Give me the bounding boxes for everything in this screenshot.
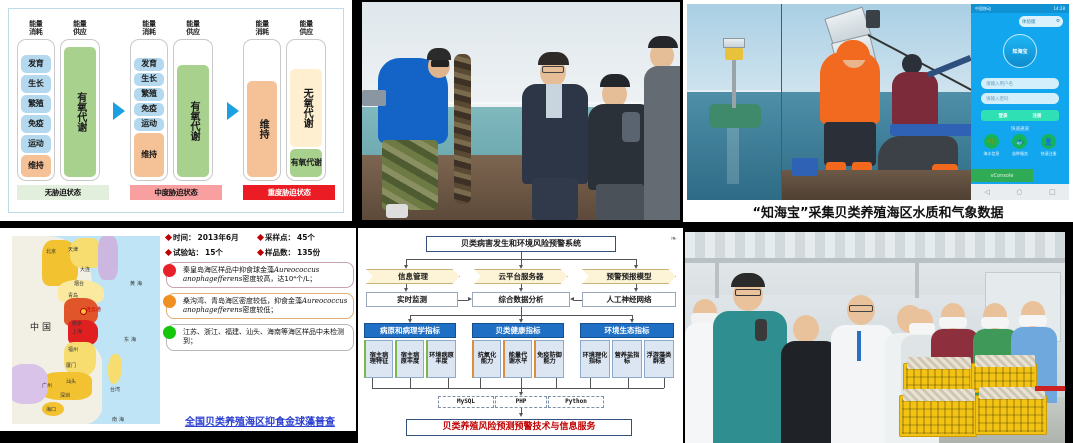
recents-icon[interactable]: □ (1049, 188, 1056, 196)
column-header-consumption-3: 能量消耗 (255, 21, 268, 36)
android-nav-bar: ◁ ○ □ (971, 184, 1069, 200)
diamond-bullet-icon (257, 249, 264, 256)
map-label-lianyungang: 连云港 (86, 306, 101, 313)
glasses-icon (735, 289, 761, 296)
seg-yundong-1: 运动 (21, 135, 51, 153)
seg-aerobic-2: 有氧代谢 (177, 65, 209, 177)
shellfish-pile-2 (975, 355, 1035, 367)
person-speaker (713, 275, 789, 443)
arrow-right-icon (468, 297, 472, 301)
slide-board: 能量消耗 发育 生长 繁殖 免疫 运动 维持 能量供应 有 (0, 0, 1073, 443)
supply-column-1: 能量供应 有氧代谢 (60, 21, 100, 181)
red-dot-icon (163, 264, 176, 277)
map-label-yantai: 烟台 (74, 280, 84, 287)
version-label: 体验版 (1022, 19, 1036, 25)
phone-screen: 中国移动 14:28 体验版 ⚙ 知海宝 请输入用户名 请输入密码 (971, 4, 1069, 200)
category-header-environment: 环境生态指标 (580, 323, 674, 338)
shellfish-pile-1 (907, 357, 971, 369)
sub-host-pathology: 宿主病理特征 (364, 340, 393, 378)
stat-row-2: 试验站： 15个 样品数： 135份 (166, 247, 354, 258)
username-input[interactable]: 请输入用户名 (981, 78, 1059, 89)
diamond-bullet-icon (257, 234, 264, 241)
arrow-right-icon-1 (113, 102, 125, 120)
connector (556, 378, 557, 388)
column-header-consumption-1: 能量消耗 (29, 21, 42, 36)
connector (521, 378, 522, 388)
map-label-huanghai: 黄海 (130, 280, 144, 287)
stat-samples-value: 135份 (297, 247, 320, 258)
quick-item-seed[interactable]: 🐟 苗种服务 (1012, 134, 1028, 157)
map-label-qingdao: 青岛 (68, 292, 78, 299)
consumption-column-2: 能量消耗 发育 生长 繁殖 免疫 运动 维持 (130, 21, 168, 181)
sub-env-pathogen-abundance: 环境病原丰度 (426, 340, 456, 378)
camera-box (866, 10, 880, 28)
system-architecture-panel: ❧ 贝类病害发生和环境风险预警系统 信息管理 云平台服务器 预警预报模型 实时监… (358, 228, 683, 443)
connector-bus (372, 388, 664, 389)
sub-env-physicochemical: 环境理化指标 (580, 340, 610, 378)
stress-group-none: 能量消耗 发育 生长 繁殖 免疫 运动 维持 能量供应 有 (17, 21, 109, 200)
chevron-info-management: 信息管理 (366, 269, 460, 284)
sub-immune-defense: 免疫防御能力 (534, 340, 564, 378)
map-label-shenzhen: 深圳 (60, 392, 70, 399)
buoy-monitoring-panel: 中国移动 14:28 体验版 ⚙ 知海宝 请输入用户名 请输入密码 (683, 0, 1073, 222)
consumption-column-1: 能量消耗 发育 生长 繁殖 免疫 运动 维持 (17, 21, 55, 181)
process-realtime-monitoring: 实时监测 (366, 292, 458, 307)
connector (664, 378, 665, 388)
supply-column-3: 能量供应 无氧代谢 有氧代谢 (286, 21, 326, 181)
stat-stations-value: 15个 (205, 247, 223, 258)
sub-energy-metabolism: 能量代谢水平 (503, 340, 532, 378)
oyster-string (454, 54, 471, 204)
microphone-icon (755, 319, 767, 341)
connector (574, 300, 582, 301)
supply-tube-3: 无氧代谢 有氧代谢 (286, 39, 326, 181)
ceiling-beam (685, 258, 1065, 263)
map-label-xiamen: 厦门 (66, 362, 76, 369)
solar-panel (723, 38, 745, 48)
map-label-tianjin: 天津 (68, 246, 78, 253)
seg-mianyi-2: 免疫 (134, 103, 164, 116)
phone-held-icon (362, 90, 386, 106)
tech-mysql: MySQL (438, 396, 494, 408)
connector (410, 378, 411, 388)
indoor-inspection-photo (685, 232, 1065, 443)
seg-fanzhi-2: 繁殖 (134, 88, 164, 101)
glasses-icon (431, 60, 449, 67)
connector (372, 378, 373, 388)
seg-anaerobic-3: 无氧代谢 (290, 69, 322, 147)
mask-icon (939, 317, 967, 328)
password-placeholder: 请输入密码 (986, 96, 1009, 102)
connector (448, 378, 449, 388)
back-icon[interactable]: ◁ (984, 188, 989, 196)
column-header-supply-2: 能量供应 (186, 21, 199, 36)
app-logo: 知海宝 (1003, 34, 1037, 68)
state-label-moderate: 中度胁迫状态 (130, 185, 222, 200)
quick-item-seawater[interactable]: 🌿 海水信息 (983, 134, 999, 157)
map-label-beijing: 北京 (46, 248, 56, 255)
sub-nutrient-salt: 营养盐指标 (612, 340, 642, 378)
quick-item-label-1: 苗种服务 (1012, 151, 1028, 157)
roof-panels (685, 232, 1065, 258)
arrow-down-icon (634, 265, 638, 269)
column-header-consumption-2: 能量消耗 (142, 21, 155, 36)
indoor-scene (685, 232, 1065, 443)
stat-time-value: 2013年6月 (198, 232, 239, 243)
seg-aerobic-3: 有氧代谢 (290, 149, 322, 177)
seg-weichi-1: 维持 (21, 155, 51, 177)
person-icon: 👤 (1041, 134, 1056, 149)
mask-icon (981, 317, 1009, 328)
shellfish-pile-3 (903, 389, 975, 401)
vconsole-watermark[interactable]: vConsole (971, 169, 1033, 182)
reflection (727, 128, 739, 184)
buoy-photo-row: 中国移动 14:28 体验版 ⚙ 知海宝 请输入用户名 请输入密码 (687, 4, 1069, 200)
fish-icon: 🐟 (1012, 134, 1027, 149)
map-label-nanjing: 南京 (72, 320, 82, 327)
consumption-column-3: 能量消耗 维持 (243, 21, 281, 181)
seg-fayu-1: 发育 (21, 55, 51, 73)
map-label-taiwan: 台湾 (110, 386, 120, 393)
region-korea (98, 236, 118, 280)
sub-host-pathogen-abundance: 宿主病原丰度 (395, 340, 424, 378)
chevron-cloud-server: 云平台服务器 (474, 269, 568, 284)
quick-item-label-0: 海水信息 (983, 151, 999, 157)
arrow-down-icon (519, 413, 523, 417)
stat-row-1: 时间： 2013年6月 采样点： 45个 (166, 232, 354, 243)
consumption-tube-1: 发育 生长 繁殖 免疫 运动 维持 (17, 39, 55, 181)
column-header-supply-1: 能量供应 (73, 21, 86, 36)
person-4 (831, 283, 893, 443)
version-pill[interactable]: 体验版 ⚙ (1019, 16, 1063, 27)
callout-low-density: 桑沟湾、青岛海区密度较低，抑食金藻Aureococcus anophageffe… (166, 293, 354, 319)
arrow-right-icon-2 (227, 102, 239, 120)
process-neural-network: 人工神经网络 (582, 292, 676, 307)
crate-front-right (975, 395, 1047, 435)
map-label-shantou: 汕头 (66, 378, 76, 385)
stat-time-label: 时间： (173, 232, 196, 243)
decorative-mark-icon: ❧ (670, 234, 677, 243)
stress-group-moderate: 能量消耗 发育 生长 繁殖 免疫 运动 维持 能量供应 有 (130, 21, 222, 200)
tech-python: Python (548, 396, 604, 408)
callout-2-after: 密度较低； (242, 306, 277, 314)
stat-samples: 样品数： 135份 (258, 247, 342, 258)
connector (590, 378, 591, 388)
buoy-mast (732, 54, 736, 108)
buoy-photo-left (687, 4, 782, 200)
column-header-supply-3: 能量供应 (299, 21, 312, 36)
seg-fayu-2: 发育 (134, 58, 164, 71)
sub-phytoplankton: 浮游藻类群落 (644, 340, 674, 378)
seg-mianyi-1: 免疫 (21, 115, 51, 133)
float-blue (890, 124, 971, 136)
survey-bullets: 时间： 2013年6月 采样点： 45个 试验站： 15个 样品数： (166, 232, 354, 429)
connector (480, 378, 481, 388)
boat-scene (362, 2, 680, 220)
stat-sample-points: 采样点： 45个 (258, 232, 342, 243)
seg-fanzhi-1: 繁殖 (21, 95, 51, 113)
buoy-panel-caption: “知海宝”采集贝类养殖海区水质和气象数据 (683, 202, 1073, 221)
person-center (518, 52, 592, 220)
quick-access-row: 🌿 海水信息 🐟 苗种服务 👤 快速注册 (977, 134, 1063, 157)
map-label-donghai: 东海 (124, 336, 138, 343)
register-button[interactable]: 注册 (1015, 110, 1059, 121)
quick-item-register[interactable]: 👤 快速注册 (1041, 134, 1057, 157)
category-header-health: 贝类健康指标 (472, 323, 564, 338)
map-label-china: 中国 (30, 320, 54, 333)
map-label-shanghai: 上海 (72, 328, 82, 335)
lanyard (857, 331, 861, 361)
energy-diagram-inner: 能量消耗 发育 生长 繁殖 免疫 运动 维持 能量供应 有 (8, 8, 344, 213)
buoy-sensor-box (725, 48, 743, 60)
map-label-dalian: 大连 (80, 266, 90, 273)
callout-not-detected: 江苏、浙江、福建、汕头、海南等海区样品中未检测到； (166, 324, 354, 350)
stat-time: 时间： 2013年6月 (166, 232, 250, 243)
chevron-forecast-model: 预警预报模型 (582, 269, 676, 284)
tech-php: PHP (495, 396, 547, 408)
map-label-nanhai: 南海 (112, 416, 126, 423)
seg-aerobic-1: 有氧代谢 (64, 47, 96, 177)
box-blue (792, 158, 818, 176)
arrow-left-icon (570, 297, 574, 301)
leaf-icon: 🌿 (984, 134, 999, 149)
seg-weichi-3: 维持 (247, 81, 277, 177)
callout-2-before: 桑沟湾、青岛海区密度较低，抑食金藻 (183, 297, 302, 305)
stress-group-severe: 能量消耗 维持 能量供应 无氧代谢 有氧代谢 重度胁迫状态 (243, 21, 335, 200)
stat-points-label: 采样点： (265, 232, 295, 243)
region-taiwan (108, 354, 122, 384)
buoy-photo-middle (782, 4, 971, 200)
connector (521, 307, 522, 315)
green-dot-icon (163, 326, 176, 339)
supply-tube-2: 有氧代谢 (173, 39, 213, 181)
category-header-pathogen: 病原和病理学指标 (364, 323, 456, 338)
stat-points-value: 45个 (297, 232, 315, 243)
callout-high-density: 秦皇岛海区样品中抑食球金藻Aureococcus anophagefferens… (166, 262, 354, 288)
orange-dot-icon (163, 295, 176, 308)
map-label-fuzhou: 福州 (68, 346, 78, 353)
state-label-severe: 重度胁迫状态 (243, 185, 335, 200)
supply-tube-1: 有氧代谢 (60, 39, 100, 181)
connector (458, 300, 468, 301)
person-far-right (646, 34, 680, 220)
diagram-title: 贝类病害发生和环境风险预警系统 (426, 236, 616, 252)
worker-blue (376, 48, 454, 218)
arrow-down-icon (519, 265, 523, 269)
username-placeholder: 请输入用户名 (986, 81, 1013, 87)
map-label-haikou: 海口 (46, 406, 56, 413)
connector (628, 378, 629, 388)
national-survey-panel: 北京 天津 大连 烟台 青岛 连云港 南京 上海 福州 厦门 广州 汕头 深圳 … (0, 228, 356, 431)
consumption-tube-3: 维持 (243, 39, 281, 181)
sub-antioxidant: 抗氧化能力 (472, 340, 501, 378)
diamond-bullet-icon (165, 249, 172, 256)
mobile-app-screenshot: 中国移动 14:28 体验版 ⚙ 知海宝 请输入用户名 请输入密码 (971, 4, 1069, 200)
diagram-bottom-title: 贝类养殖风险预测预警技术与信息服务 (406, 419, 632, 436)
quick-access-label: 快速通道 (983, 126, 1057, 132)
stat-samples-label: 样品数： (265, 247, 295, 258)
callout-1-after: 密度较高，达10⁴个/L； (242, 275, 316, 283)
mask-icon (1019, 315, 1047, 326)
seg-weichi-2: 维持 (134, 133, 164, 177)
diamond-bullet-icon (165, 234, 172, 241)
status-bar: 中国移动 14:28 (971, 4, 1069, 13)
home-icon[interactable]: ○ (1016, 188, 1022, 196)
state-label-none: 无胁迫状态 (17, 185, 109, 200)
process-data-analysis: 综合数据分析 (472, 292, 570, 307)
password-input[interactable]: 请输入密码 (981, 93, 1059, 104)
seg-shengzhang-2: 生长 (134, 73, 164, 86)
stat-stations-label: 试验站： (173, 247, 203, 258)
gear-icon[interactable]: ⚙ (1056, 19, 1060, 24)
system-diagram: ❧ 贝类病害发生和环境风险预警系统 信息管理 云平台服务器 预警预报模型 实时监… (358, 228, 683, 443)
callout-3-before: 江苏、浙江、福建、汕头、海南等海区样品中未检测到； (183, 328, 344, 345)
province-liaoning (70, 238, 100, 268)
glasses-icon (849, 305, 873, 312)
supply-column-2: 能量供应 有氧代谢 (173, 21, 213, 181)
consumption-tube-2: 发育 生长 繁殖 免疫 运动 维持 (130, 39, 168, 181)
seg-yundong-2: 运动 (134, 118, 164, 131)
seg-shengzhang-1: 生长 (21, 75, 51, 93)
map-label-guangzhou: 广州 (42, 382, 52, 389)
survey-panel-title: 全国贝类养殖海区抑食金球藻普查 (166, 413, 354, 428)
energy-stress-diagram-panel: 能量消耗 发育 生长 繁殖 免疫 运动 维持 能量供应 有 (0, 0, 352, 221)
callout-1-before: 秦皇岛海区样品中抑食球金藻 (183, 266, 274, 274)
quick-item-label-2: 快速注册 (1041, 151, 1057, 157)
boat-sampling-photo (362, 2, 680, 220)
arrow-down-icon (404, 265, 408, 269)
connector (521, 252, 522, 259)
carrier-label: 中国移动 (975, 6, 991, 12)
red-strap (1035, 386, 1065, 391)
china-coast-map: 北京 天津 大连 烟台 青岛 连云港 南京 上海 福州 厦门 广州 汕头 深圳 … (12, 236, 160, 424)
app-logo-label: 知海宝 (1012, 48, 1027, 55)
stat-stations: 试验站： 15个 (166, 247, 250, 258)
crate-front-left (899, 395, 977, 437)
clock-label: 14:28 (1053, 6, 1065, 11)
